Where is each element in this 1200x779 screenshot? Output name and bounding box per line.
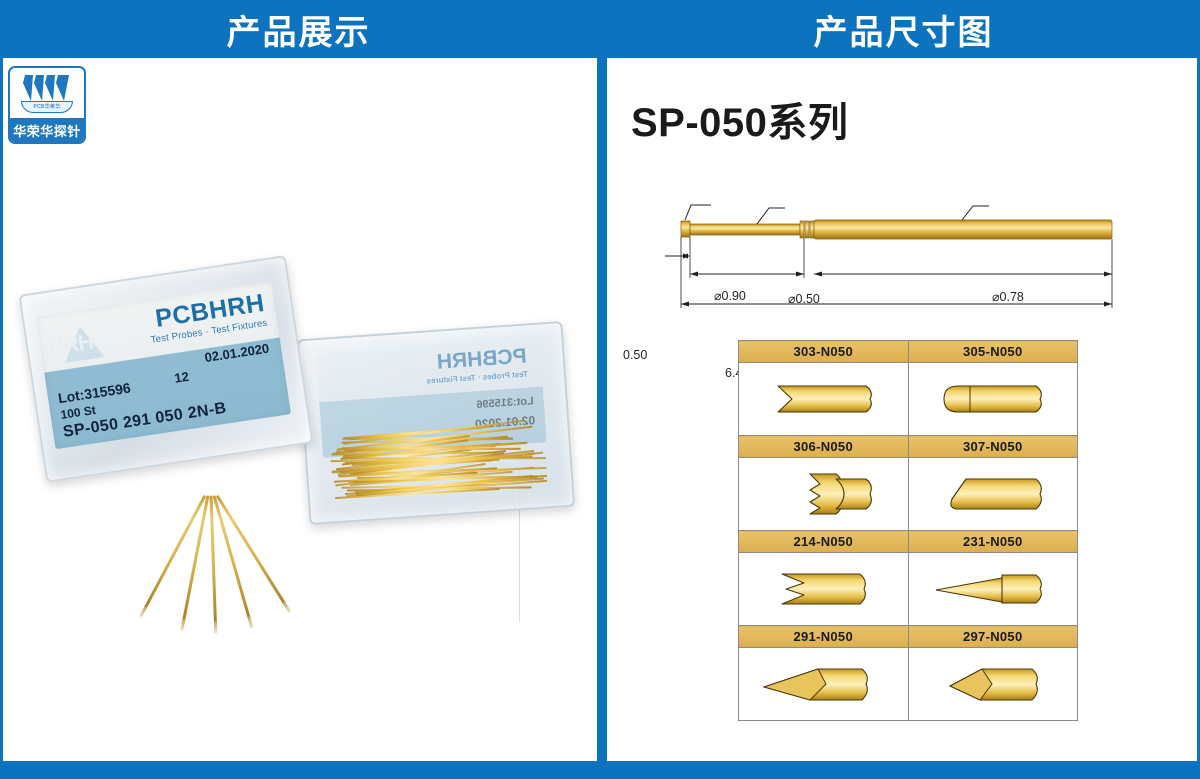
bevel-angled-tip-icon xyxy=(918,471,1068,517)
panel-divider xyxy=(597,0,607,779)
tip-shape-305 xyxy=(908,363,1078,436)
round-dome-tip-icon xyxy=(918,376,1068,422)
company-logo: PCB华荣华 华荣华探针 xyxy=(8,66,86,144)
tip-shape-231 xyxy=(908,553,1078,626)
probe-needle xyxy=(210,495,217,623)
two-prong-fork-tip-icon xyxy=(748,566,898,612)
right-panel-header: 产品尺寸图 xyxy=(607,0,1200,58)
logo-badge: PCB华荣华 xyxy=(21,101,73,113)
tip-code-214: 214-N050 xyxy=(739,531,909,553)
table-row xyxy=(739,648,1078,721)
probe-needle xyxy=(216,495,286,605)
table-header-row: 291-N050 297-N050 xyxy=(739,626,1078,648)
tip-code-305: 305-N050 xyxy=(908,341,1078,363)
table-header-row: 303-N050 305-N050 xyxy=(739,341,1078,363)
product-photo-panel: PCBHRH Test Probes · Test Fixtures Lot:3… xyxy=(3,58,597,761)
dimension-drawing-panel: SP-050系列 xyxy=(607,58,1197,761)
table-row xyxy=(739,553,1078,626)
tip-shape-303 xyxy=(739,363,909,436)
tip-style-table: 303-N050 305-N050 xyxy=(738,340,1078,721)
dim-dia-body: ⌀0.78 xyxy=(992,289,1024,304)
dim-head-length: 0.50 xyxy=(623,348,647,362)
short-spear-point-tip-icon xyxy=(918,659,1068,709)
crown-probe-icon xyxy=(22,73,72,103)
tip-shape-306 xyxy=(739,458,909,531)
logo-mark: PCB华荣华 xyxy=(10,68,84,120)
ghost-lot: Lot:315596 xyxy=(476,395,534,411)
product-detail-page: 产品展示 产品尺寸图 PCBHRH Test Probes · Test Fix… xyxy=(0,0,1200,779)
tip-code-307: 307-N050 xyxy=(908,436,1078,458)
tip-code-306: 306-N050 xyxy=(739,436,909,458)
probe-case-labeled: HRH PCBHRH Test Probes · Test Fixtures 0… xyxy=(18,255,313,483)
left-panel-title: 产品展示 xyxy=(227,5,371,54)
flat-chisel-tip-icon xyxy=(748,376,898,422)
series-title: SP-050系列 xyxy=(631,90,848,148)
loose-probes-fan xyxy=(199,490,414,610)
tip-shape-307 xyxy=(908,458,1078,531)
left-panel-header: 产品展示 xyxy=(0,0,597,58)
table-row xyxy=(739,458,1078,531)
crown-serrated-tip-icon xyxy=(748,468,898,520)
label-lot-qty-code: 12 xyxy=(173,369,190,386)
tip-code-297: 297-N050 xyxy=(908,626,1078,648)
long-spear-point-tip-icon xyxy=(748,659,898,709)
tip-shape-291 xyxy=(739,648,909,721)
tip-shape-214 xyxy=(739,553,909,626)
table-row xyxy=(739,363,1078,436)
fine-needle-tip-icon xyxy=(918,566,1068,612)
tip-shape-297 xyxy=(908,648,1078,721)
dim-dia-mid: ⌀0.50 xyxy=(788,291,820,306)
table-header-row: 306-N050 307-N050 xyxy=(739,436,1078,458)
tip-code-303: 303-N050 xyxy=(739,341,909,363)
dim-dia-head: ⌀0.90 xyxy=(714,288,746,303)
right-panel-title: 产品尺寸图 xyxy=(814,5,994,54)
tip-code-231: 231-N050 xyxy=(908,531,1078,553)
logo-company-name: 华荣华探针 xyxy=(10,118,84,142)
table-header-row: 214-N050 231-N050 xyxy=(739,531,1078,553)
label-date: 02.01.2020 xyxy=(204,341,271,365)
product-photograph: PCBHRH Test Probes · Test Fixtures Lot:3… xyxy=(3,58,597,761)
probe-needle xyxy=(213,495,251,619)
tip-code-291: 291-N050 xyxy=(739,626,909,648)
